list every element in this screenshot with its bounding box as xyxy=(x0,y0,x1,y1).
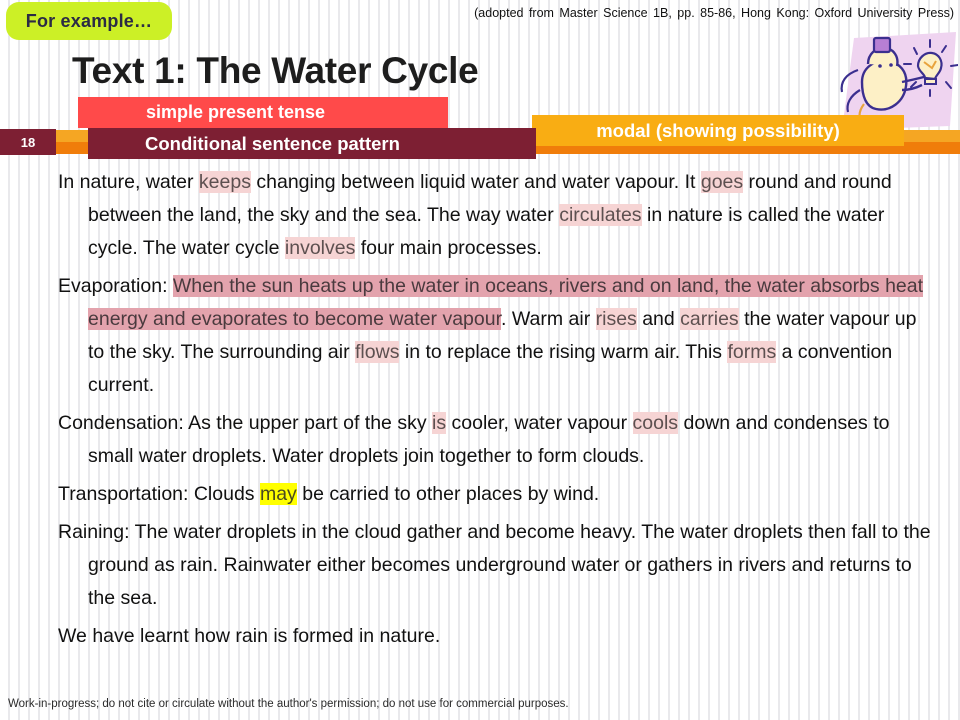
page-number-badge: 18 xyxy=(0,129,56,155)
source-citation: (adopted from Master Science 1B, pp. 85-… xyxy=(474,6,954,20)
text-run: and xyxy=(637,308,680,330)
paragraph-intro: In nature, water keeps changing between … xyxy=(58,166,938,265)
annotation-banner-simple-present: simple present tense xyxy=(78,97,448,128)
text-run: We have learnt how rain is formed in nat… xyxy=(58,625,440,647)
text-run: be carried to other places by wind. xyxy=(297,483,599,505)
page-title: Text 1: The Water Cycle xyxy=(72,50,478,92)
paragraph-transportation: Transportation: Clouds may be carried to… xyxy=(58,478,938,511)
paragraph-evaporation: Evaporation: When the sun heats up the w… xyxy=(58,270,938,402)
text-run: in to replace the rising warm air. This xyxy=(399,341,727,363)
text-run: Condensation: As the upper part of the s… xyxy=(58,412,432,434)
for-example-badge: For example… xyxy=(6,2,172,40)
text-run: four main processes. xyxy=(355,237,541,259)
text-run: Raining: The water droplets in the cloud… xyxy=(58,521,931,609)
text-run: In nature, water xyxy=(58,171,199,193)
text-run: . Warm air xyxy=(501,308,596,330)
highlight-verb: keeps xyxy=(199,171,251,193)
text-run: Evaporation: xyxy=(58,275,173,297)
slide-canvas: For example… (adopted from Master Scienc… xyxy=(0,0,960,720)
text-run: changing between liquid water and water … xyxy=(251,171,701,193)
highlight-modal: may xyxy=(260,483,297,505)
highlight-verb: cools xyxy=(633,412,679,434)
annotation-conditional-label: Conditional sentence pattern xyxy=(145,133,400,155)
highlight-verb: rises xyxy=(596,308,637,330)
for-example-label: For example… xyxy=(26,11,152,32)
text-run: Transportation: Clouds xyxy=(58,483,260,505)
highlight-verb: involves xyxy=(285,237,355,259)
highlight-verb: carries xyxy=(680,308,739,330)
paragraph-raining: Raining: The water droplets in the cloud… xyxy=(58,516,938,615)
annotation-banner-modal: modal (showing possibility) xyxy=(532,115,904,146)
annotation-simple-present-label: simple present tense xyxy=(146,102,325,123)
highlight-verb: flows xyxy=(355,341,399,363)
paragraph-conclusion: We have learnt how rain is formed in nat… xyxy=(58,620,938,653)
text-run: cooler, water vapour xyxy=(446,412,632,434)
paragraph-condensation: Condensation: As the upper part of the s… xyxy=(58,407,938,473)
highlight-verb: goes xyxy=(701,171,743,193)
footer-disclaimer: Work-in-progress; do not cite or circula… xyxy=(8,698,569,710)
highlight-verb: is xyxy=(432,412,446,434)
annotation-banner-conditional: Conditional sentence pattern xyxy=(88,128,536,159)
annotation-modal-label: modal (showing possibility) xyxy=(596,120,840,142)
highlight-verb: circulates xyxy=(559,204,641,226)
lesson-body-text: In nature, water keeps changing between … xyxy=(58,166,938,658)
highlight-verb: forms xyxy=(727,341,776,363)
